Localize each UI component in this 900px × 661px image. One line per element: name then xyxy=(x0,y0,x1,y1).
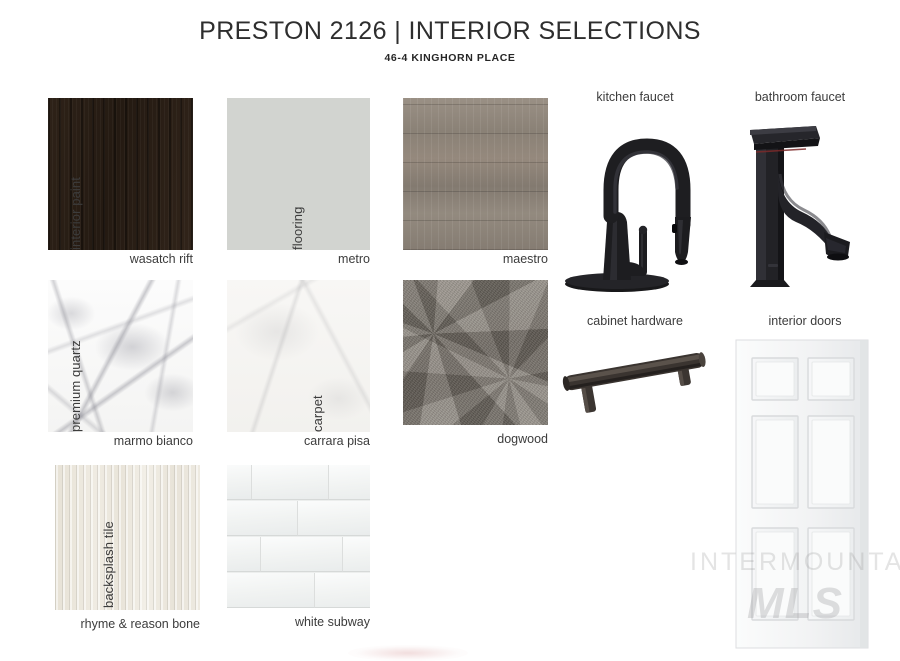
swatch-category-label: greyloch cabinet xyxy=(0,154,42,250)
product-bathroom-faucet[interactable]: bathroom faucet xyxy=(720,90,880,300)
swatch-image-white-subway xyxy=(227,465,370,608)
bathroom-faucet-icon xyxy=(720,112,880,297)
swatch-flooring[interactable]: flooring maestro xyxy=(403,98,548,268)
subway-tile-unit xyxy=(227,501,298,536)
swatch-category-label: carpet xyxy=(311,395,397,432)
swatch-carpet[interactable]: carpet dogwood xyxy=(403,280,548,450)
swatch-caption: wasatch rift xyxy=(48,252,193,266)
swatch-category-label: flooring xyxy=(291,207,397,250)
six-panel-door-icon xyxy=(710,338,900,650)
product-label: bathroom faucet xyxy=(720,90,880,104)
subway-tile-unit xyxy=(227,573,315,608)
swatch-image-dogwood xyxy=(403,280,548,425)
flooring-plank-texture xyxy=(403,98,548,250)
swatch-category-label: backsplash tile xyxy=(0,523,41,610)
swatch-caption: marmo bianco xyxy=(48,434,193,448)
product-kitchen-faucet[interactable]: kitchen faucet xyxy=(555,90,715,300)
page-subtitle: 46-4 KINGHORN PLACE xyxy=(0,52,900,64)
carpet-pile-texture xyxy=(403,280,548,425)
subway-tile-unit xyxy=(227,537,261,572)
swatch-caption: white subway xyxy=(217,615,370,629)
swatch-category-label: laminate xyxy=(0,382,42,432)
swatch-caption: carrara pisa xyxy=(227,434,370,448)
subway-tile-texture xyxy=(227,465,370,608)
subway-tile-unit xyxy=(315,573,370,608)
swatch-caption: dogwood xyxy=(403,432,548,446)
swatch-category-label: premium quartz xyxy=(69,340,221,432)
product-label: kitchen faucet xyxy=(555,90,715,104)
product-interior-doors[interactable]: interior doors xyxy=(710,314,900,654)
subway-tile-unit xyxy=(252,465,330,500)
swatch-category-label: backsplash tile xyxy=(102,521,213,608)
swatch-image-maestro xyxy=(403,98,548,250)
bottom-artifact xyxy=(348,645,468,661)
kitchen-faucet-icon xyxy=(555,112,715,297)
swatch-caption: metro xyxy=(227,252,370,266)
subway-tile-unit xyxy=(227,465,252,500)
subway-tile-unit xyxy=(261,537,343,572)
cabinet-bar-pull-icon xyxy=(550,336,720,414)
swatch-category-label: interior paint xyxy=(69,177,221,250)
product-label: interior doors xyxy=(710,314,900,328)
swatch-caption: maestro xyxy=(403,252,548,266)
swatch-caption: rhyme & reason bone xyxy=(45,617,200,631)
board-header: PRESTON 2126 | INTERIOR SELECTIONS 46-4 … xyxy=(0,0,900,64)
page-title: PRESTON 2126 | INTERIOR SELECTIONS xyxy=(0,18,900,46)
product-cabinet-hardware[interactable]: cabinet hardware xyxy=(550,314,720,414)
product-label: cabinet hardware xyxy=(550,314,720,328)
subway-tile-unit xyxy=(298,501,370,536)
subway-tile-unit xyxy=(329,465,370,500)
swatch-backsplash-tile-subway[interactable]: backsplash tile white subway xyxy=(227,465,370,635)
subway-tile-unit xyxy=(343,537,370,572)
